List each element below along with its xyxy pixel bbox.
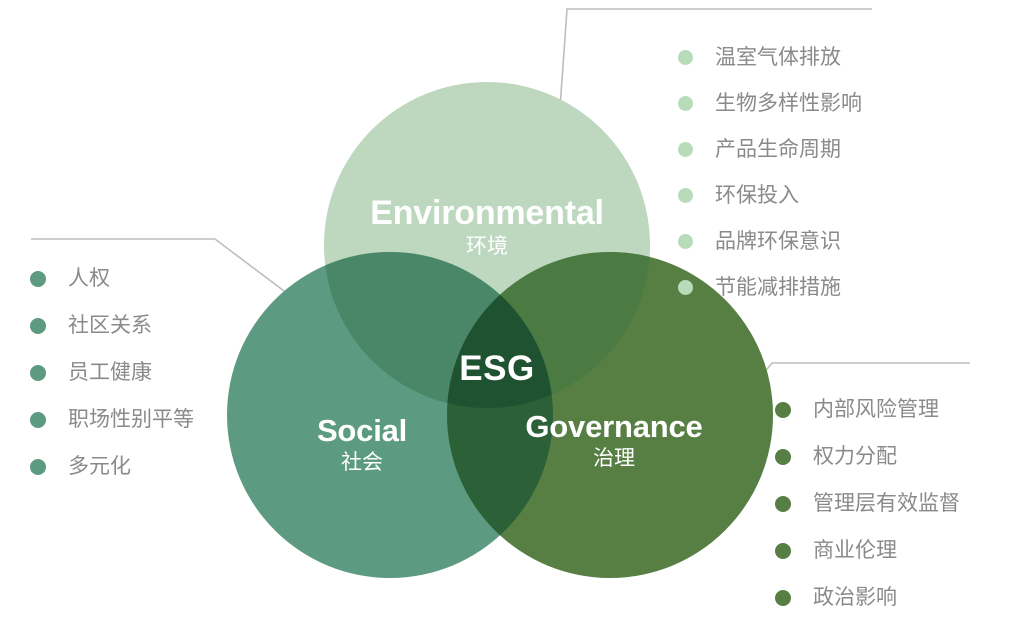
bullet-dot-icon xyxy=(775,449,791,465)
list-item: 内部风险管理 xyxy=(775,386,960,433)
list-item-label: 温室气体排放 xyxy=(715,47,841,68)
list-item: 节能减排措施 xyxy=(678,264,862,310)
list-item-label: 政治影响 xyxy=(813,587,897,608)
list-item-label: 商业伦理 xyxy=(813,540,897,561)
list-item-label: 生物多样性影响 xyxy=(715,93,862,114)
list-item-label: 内部风险管理 xyxy=(813,399,939,420)
list-item: 权力分配 xyxy=(775,433,960,480)
list-item-label: 权力分配 xyxy=(813,446,897,467)
list-social: 人权社区关系员工健康职场性别平等多元化 xyxy=(30,255,194,490)
list-item-label: 员工健康 xyxy=(68,362,152,383)
bullet-dot-icon xyxy=(30,271,46,287)
list-item: 员工健康 xyxy=(30,349,194,396)
list-item: 环保投入 xyxy=(678,172,862,218)
bullet-dot-icon xyxy=(30,412,46,428)
bullet-dot-icon xyxy=(775,543,791,559)
list-item: 管理层有效监督 xyxy=(775,480,960,527)
list-item: 温室气体排放 xyxy=(678,34,862,80)
list-item-label: 品牌环保意识 xyxy=(715,231,841,252)
list-item: 多元化 xyxy=(30,443,194,490)
list-item-label: 社区关系 xyxy=(68,315,152,336)
list-item-label: 节能减排措施 xyxy=(715,277,841,298)
bullet-dot-icon xyxy=(30,459,46,475)
list-item: 生物多样性影响 xyxy=(678,80,862,126)
list-item-label: 管理层有效监督 xyxy=(813,493,960,514)
bullet-dot-icon xyxy=(678,234,693,249)
list-governance: 内部风险管理权力分配管理层有效监督商业伦理政治影响 xyxy=(775,386,960,621)
list-item: 职场性别平等 xyxy=(30,396,194,443)
list-item-label: 产品生命周期 xyxy=(715,139,841,160)
list-item: 产品生命周期 xyxy=(678,126,862,172)
bullet-dot-icon xyxy=(30,365,46,381)
bullet-dot-icon xyxy=(678,96,693,111)
bullet-dot-icon xyxy=(775,590,791,606)
bullet-dot-icon xyxy=(678,280,693,295)
bullet-dot-icon xyxy=(678,142,693,157)
list-item-label: 人权 xyxy=(68,268,110,289)
list-item: 品牌环保意识 xyxy=(678,218,862,264)
bullet-dot-icon xyxy=(30,318,46,334)
list-item: 商业伦理 xyxy=(775,527,960,574)
list-item-label: 环保投入 xyxy=(715,185,799,206)
list-item-label: 多元化 xyxy=(68,456,131,477)
list-item-label: 职场性别平等 xyxy=(68,409,194,430)
bullet-dot-icon xyxy=(678,50,693,65)
list-item: 人权 xyxy=(30,255,194,302)
list-environmental: 温室气体排放生物多样性影响产品生命周期环保投入品牌环保意识节能减排措施 xyxy=(678,34,862,310)
bullet-dot-icon xyxy=(678,188,693,203)
bullet-dot-icon xyxy=(775,496,791,512)
esg-venn-diagram: Environmental 环境 Social 社会 Governance 治理… xyxy=(0,0,1032,627)
bullet-dot-icon xyxy=(775,402,791,418)
list-item: 政治影响 xyxy=(775,574,960,621)
list-item: 社区关系 xyxy=(30,302,194,349)
